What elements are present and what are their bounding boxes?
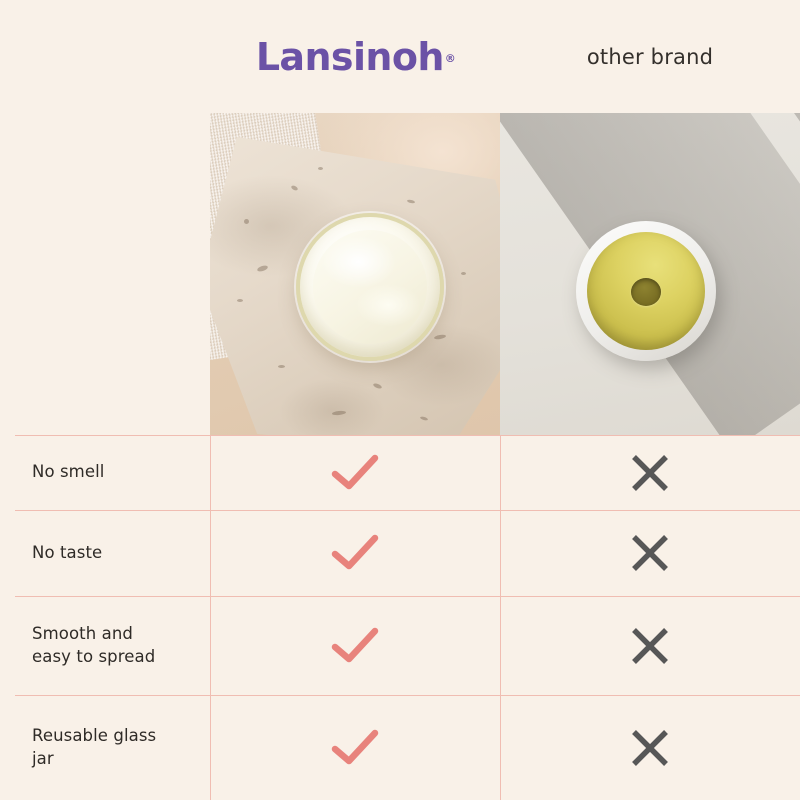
lansinoh-wordmark: Lansinoh — [256, 35, 444, 79]
lansinoh-result-cell — [210, 695, 500, 800]
check-icon — [330, 532, 380, 574]
header: Lansinoh® other brand — [0, 0, 800, 113]
feature-label-line-2: jar — [32, 749, 54, 768]
product-photo-strip: Open glass jar of white lanolin cream re… — [0, 113, 800, 435]
feature-label-cell: No smell — [0, 435, 210, 510]
lansinoh-result-cell — [210, 596, 500, 695]
white-tube — [576, 221, 716, 361]
feature-label-cell: Smooth andeasy to spread — [0, 596, 210, 695]
other-brand-result-cell — [500, 435, 800, 510]
feature-label: Smooth andeasy to spread — [32, 623, 155, 668]
table-row: No taste — [0, 510, 800, 596]
cross-icon — [629, 625, 671, 667]
feature-label-line-1: Reusable glass — [32, 726, 156, 745]
check-icon — [330, 625, 380, 667]
yellow-balm — [587, 232, 705, 350]
center-hole — [631, 278, 661, 306]
other-brand-label: other brand — [587, 45, 713, 69]
glass-jar — [296, 213, 444, 361]
lansinoh-result-cell — [210, 510, 500, 596]
feature-label-line-1: Smooth and — [32, 624, 133, 643]
cross-icon — [629, 727, 671, 769]
other-brand-result-cell — [500, 695, 800, 800]
lansinoh-product-photo: Open glass jar of white lanolin cream re… — [210, 113, 500, 435]
cross-icon — [629, 532, 671, 574]
feature-label: No taste — [32, 542, 102, 564]
feature-label-cell: No taste — [0, 510, 210, 596]
table-row: No smell — [0, 435, 800, 510]
other-brand-product-photo: Yellow balm in a white tube with a cente… — [500, 113, 800, 435]
comparison-table: No smell No taste — [0, 435, 800, 800]
table-row: Reusable glassjar — [0, 695, 800, 800]
feature-label-line-2: easy to spread — [32, 647, 155, 666]
table-row: Smooth andeasy to spread — [0, 596, 800, 695]
registered-trademark-icon: ® — [445, 52, 455, 65]
feature-label: Reusable glassjar — [32, 725, 156, 770]
lansinoh-logo-text: Lansinoh® — [256, 38, 454, 76]
feature-label: No smell — [32, 461, 104, 483]
lansinoh-result-cell — [210, 435, 500, 510]
other-brand-result-cell — [500, 510, 800, 596]
comparison-infographic: Lansinoh® other brand — [0, 0, 800, 800]
feature-label-cell: Reusable glassjar — [0, 695, 210, 800]
cross-icon — [629, 452, 671, 494]
other-brand-header: other brand — [500, 0, 800, 113]
check-icon — [330, 452, 380, 494]
check-icon — [330, 727, 380, 769]
white-lanolin-cream — [313, 230, 427, 344]
lansinoh-logo: Lansinoh® — [210, 0, 500, 113]
other-brand-result-cell — [500, 596, 800, 695]
